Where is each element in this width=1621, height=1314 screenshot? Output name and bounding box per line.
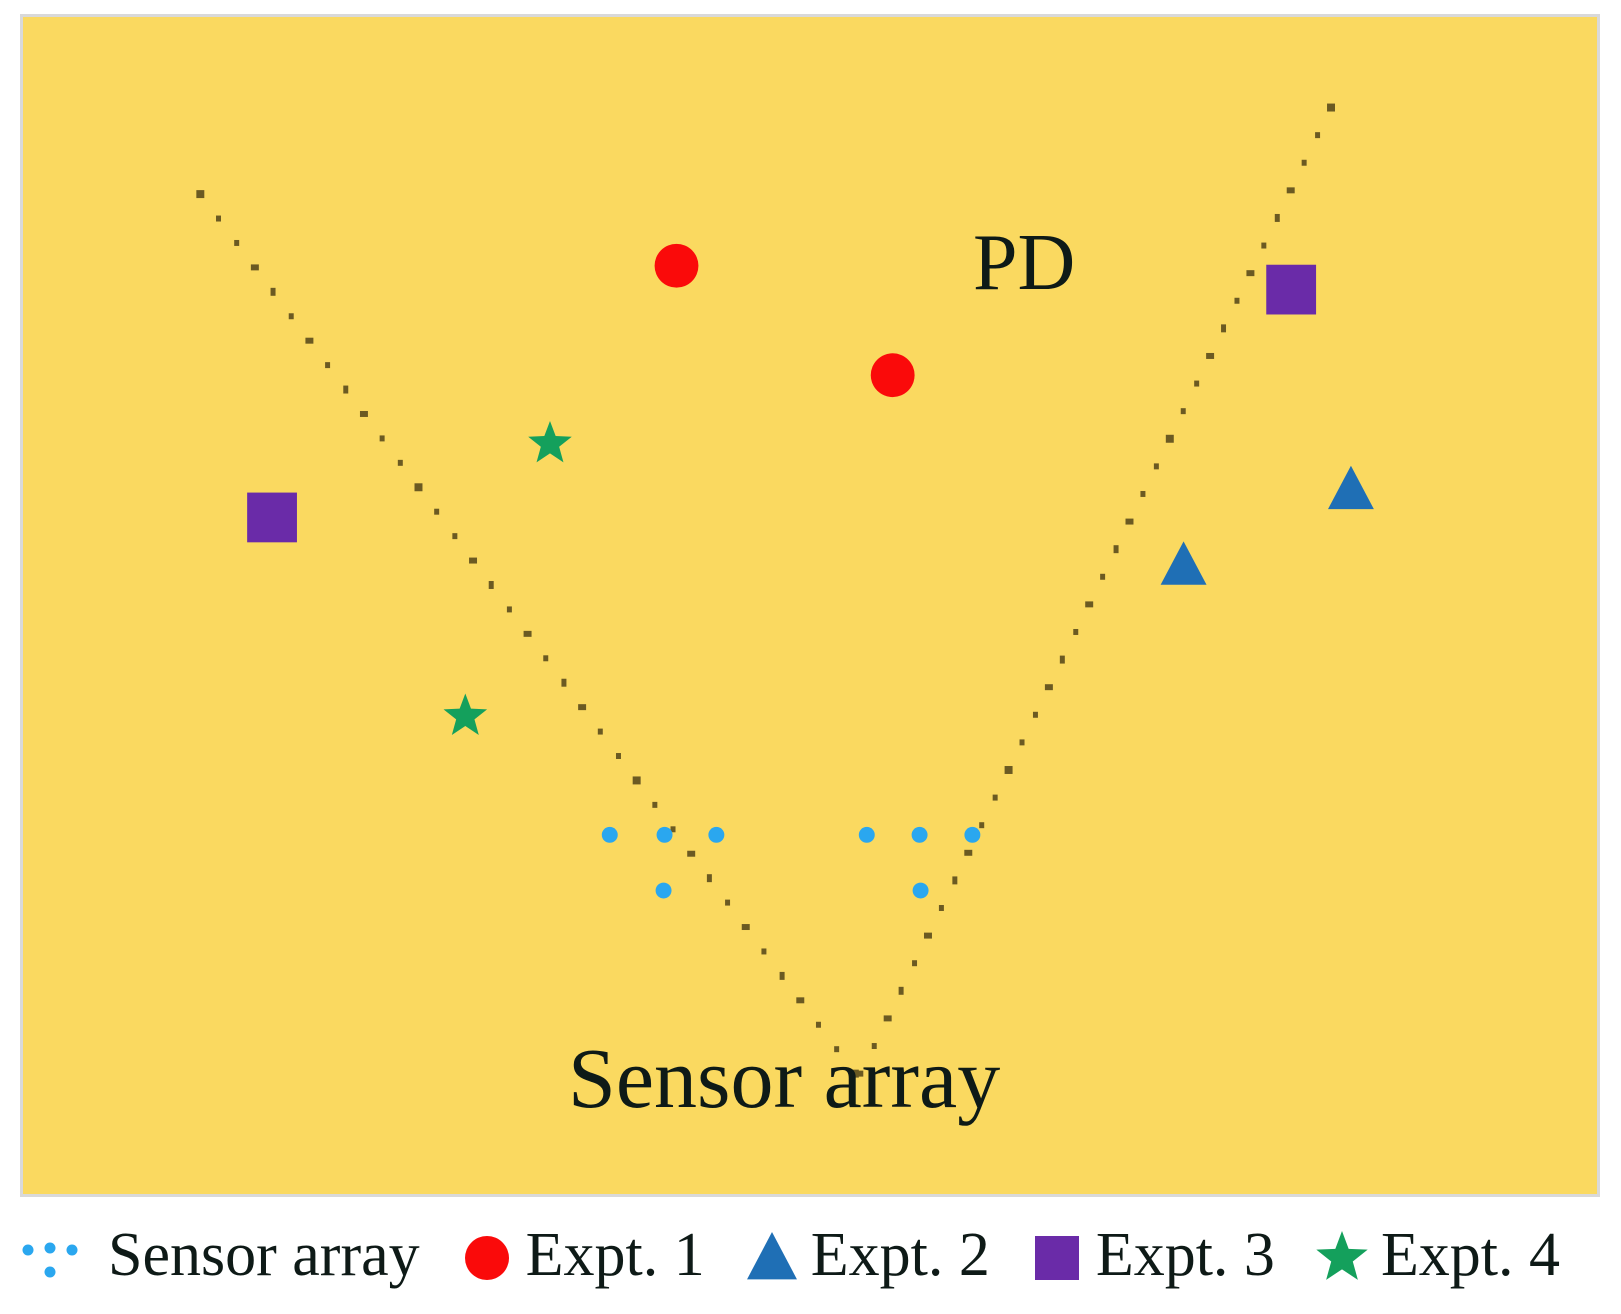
guide-dot xyxy=(761,948,766,954)
data-point-square xyxy=(247,493,297,543)
guide-dot xyxy=(578,704,586,710)
data-point-star xyxy=(528,421,572,462)
guide-dot xyxy=(234,240,239,246)
guide-dot xyxy=(271,288,276,296)
sensor-fov-right xyxy=(858,104,1335,1077)
data-point-circle xyxy=(871,353,915,397)
data-point-triangle xyxy=(1328,466,1374,509)
guide-dot xyxy=(598,729,603,735)
guide-dot xyxy=(1181,408,1186,414)
data-point-dot xyxy=(657,827,673,843)
plot-panel: PD Sensor array xyxy=(20,14,1600,1197)
data-point-circle xyxy=(655,244,699,288)
series-expt-2 xyxy=(1161,466,1374,585)
guide-dot xyxy=(616,753,621,759)
guide-dot xyxy=(924,933,932,939)
guide-dot xyxy=(1060,656,1065,664)
data-point-star xyxy=(444,694,488,735)
guide-dot xyxy=(707,874,712,882)
legend-item-expt-3[interactable]: Expt. 3 xyxy=(1020,1199,1305,1314)
guide-dot xyxy=(543,655,548,661)
guide-dot xyxy=(1020,739,1025,745)
guide-dot xyxy=(780,972,785,980)
guide-dot xyxy=(507,606,512,612)
data-point-dot xyxy=(912,827,928,843)
series-expt-3 xyxy=(247,265,1316,543)
guide-dot xyxy=(216,216,221,222)
data-point-triangle xyxy=(1161,541,1207,584)
guide-dot xyxy=(398,460,403,466)
scatter-plot-canvas xyxy=(23,17,1597,1194)
guide-dot xyxy=(899,987,904,995)
guide-dot xyxy=(360,411,368,417)
guide-dot xyxy=(952,876,957,884)
legend-label: Expt. 2 xyxy=(811,1224,990,1286)
legend-sensor-dot xyxy=(23,1244,34,1255)
series-expt-4 xyxy=(444,421,572,735)
guide-dot xyxy=(1287,187,1295,193)
guide-dot xyxy=(1234,298,1239,304)
guide-dot xyxy=(1206,353,1214,359)
legend-square-icon xyxy=(1020,1220,1082,1294)
guide-dot xyxy=(251,264,259,270)
guide-dot xyxy=(939,905,944,911)
guide-dot xyxy=(305,338,313,344)
pd-label: PD xyxy=(973,223,1075,303)
guide-dot xyxy=(1154,463,1159,469)
legend-circle-icon xyxy=(450,1220,512,1294)
data-point-square xyxy=(1266,265,1316,315)
guide-dot xyxy=(1140,491,1145,497)
guide-dot xyxy=(289,313,294,319)
legend-star-glyph xyxy=(1316,1231,1367,1280)
data-point-dot xyxy=(656,883,672,899)
guide-dot xyxy=(434,509,439,515)
guide-dot xyxy=(652,802,657,808)
legend-sensor-dot xyxy=(45,1266,56,1277)
legend-label: Expt. 4 xyxy=(1381,1224,1560,1286)
guide-dot xyxy=(489,581,494,589)
guide-dot xyxy=(1005,766,1013,774)
series-expt-1 xyxy=(655,244,915,397)
guide-dot xyxy=(979,822,984,828)
guide-dot xyxy=(1073,629,1078,635)
guide-dot xyxy=(1033,712,1038,718)
guide-dot xyxy=(343,386,348,394)
guide-dot xyxy=(1194,381,1199,387)
guide-dot xyxy=(469,558,477,564)
data-point-dot xyxy=(859,827,875,843)
guide-dot xyxy=(725,900,730,906)
legend-triangle-icon xyxy=(735,1220,797,1294)
sensor-array-label: Sensor array xyxy=(568,1035,1000,1121)
guide-dot xyxy=(1045,684,1053,690)
guide-dot xyxy=(452,533,457,539)
guide-dot xyxy=(1100,574,1105,580)
legend-item-sensor-array[interactable]: Sensor array xyxy=(14,1199,450,1314)
guide-dot xyxy=(1315,132,1320,138)
guide-dot xyxy=(1085,601,1093,607)
guide-dot xyxy=(816,1022,821,1028)
guide-dot xyxy=(1275,214,1280,222)
guide-dot xyxy=(1302,160,1307,166)
legend-star-icon xyxy=(1305,1220,1367,1294)
guide-dot xyxy=(1246,270,1254,276)
chart-legend: Sensor arrayExpt. 1Expt. 2Expt. 3Expt. 4 xyxy=(0,1199,1621,1314)
guide-dot xyxy=(993,795,998,801)
guide-dot xyxy=(964,850,972,856)
legend-label: Sensor array xyxy=(108,1224,420,1286)
guide-dot xyxy=(687,851,695,857)
legend-label: Expt. 1 xyxy=(526,1224,705,1286)
guide-dot xyxy=(524,631,532,637)
figure-root: PD Sensor array Sensor arrayExpt. 1Expt.… xyxy=(0,0,1621,1314)
data-point-dot xyxy=(964,827,980,843)
legend-sensor-dot xyxy=(45,1242,56,1253)
legend-label: Expt. 3 xyxy=(1096,1224,1275,1286)
sensor-fov-left xyxy=(196,190,858,1077)
legend-square-glyph xyxy=(1035,1236,1079,1280)
data-point-dot xyxy=(708,827,724,843)
legend-item-expt-4[interactable]: Expt. 4 xyxy=(1305,1199,1590,1314)
legend-circle-glyph xyxy=(465,1236,509,1280)
guide-dot xyxy=(1261,243,1266,249)
guide-dot xyxy=(1114,545,1119,553)
guide-dot xyxy=(796,997,804,1003)
data-point-dot xyxy=(602,827,618,843)
guide-dot xyxy=(561,679,566,687)
guide-dot xyxy=(1327,104,1335,112)
data-point-dot xyxy=(913,883,929,899)
guide-dot xyxy=(1126,519,1134,525)
guide-dot xyxy=(415,483,423,491)
legend-item-expt-1[interactable]: Expt. 1 xyxy=(450,1199,735,1314)
guide-dot xyxy=(380,435,385,441)
legend-item-expt-2[interactable]: Expt. 2 xyxy=(735,1199,1020,1314)
legend-triangle-glyph xyxy=(747,1232,797,1279)
guide-dot xyxy=(633,776,641,784)
guide-dot xyxy=(325,362,330,368)
legend-sensor-dots-icon xyxy=(14,1220,94,1294)
guide-dot xyxy=(196,190,204,198)
guide-dot xyxy=(884,1015,892,1021)
guide-dot xyxy=(912,960,917,966)
legend-sensor-dot xyxy=(67,1244,78,1255)
guide-dot xyxy=(1221,324,1226,332)
series-sensor-array xyxy=(602,827,981,899)
guide-dot xyxy=(742,924,750,930)
guide-dot xyxy=(1166,435,1174,443)
